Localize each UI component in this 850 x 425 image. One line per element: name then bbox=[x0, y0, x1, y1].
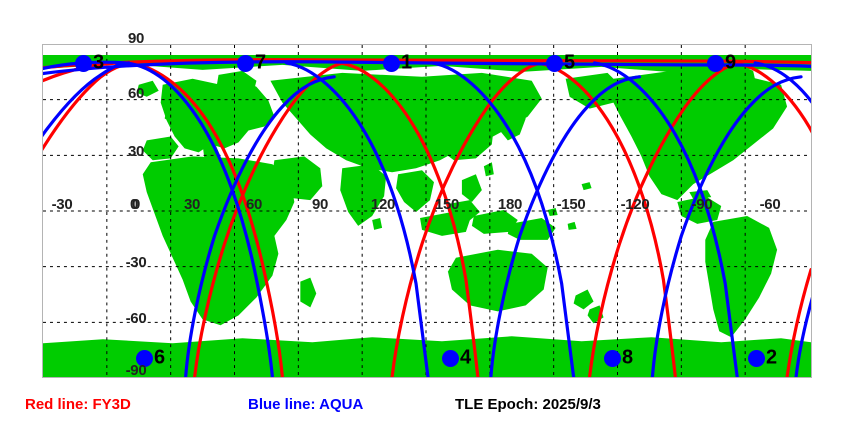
marker-label-2: 2 bbox=[766, 348, 777, 368]
ground-track-page: 3 7 1 5 9 6 4 8 2 -30 0 30 60 90 120 150… bbox=[0, 0, 850, 425]
lon-tick-label: -60 bbox=[760, 196, 781, 213]
legend: Red line: FY3D Blue line: AQUA TLE Epoch… bbox=[0, 392, 850, 420]
lon-tick-label: -90 bbox=[692, 196, 713, 213]
marker-node-5[interactable] bbox=[546, 55, 563, 72]
marker-label-5: 5 bbox=[564, 53, 575, 73]
lon-tick-label: 30 bbox=[184, 196, 200, 213]
marker-label-8: 8 bbox=[622, 348, 633, 368]
lon-tick-label: -30 bbox=[52, 196, 73, 213]
legend-tle-epoch: TLE Epoch: 2025/9/3 bbox=[455, 396, 601, 413]
lat-tick-label: -60 bbox=[126, 310, 147, 327]
marker-label-6: 6 bbox=[154, 348, 165, 368]
marker-node-1[interactable] bbox=[383, 55, 400, 72]
marker-label-4: 4 bbox=[460, 348, 471, 368]
legend-blue-line: Blue line: AQUA bbox=[248, 396, 363, 413]
marker-node-7[interactable] bbox=[237, 55, 254, 72]
lat-tick-label: -90 bbox=[126, 362, 147, 379]
lon-tick-label: -150 bbox=[557, 196, 586, 213]
marker-label-9: 9 bbox=[725, 53, 736, 73]
marker-label-3: 3 bbox=[93, 53, 104, 73]
lat-tick-label: 30 bbox=[128, 143, 144, 160]
lat-tick-label: 60 bbox=[128, 85, 144, 102]
lat-tick-label: -30 bbox=[126, 254, 147, 271]
legend-red-line: Red line: FY3D bbox=[25, 396, 131, 413]
lat-tick-label: 90 bbox=[128, 30, 144, 47]
lon-tick-label: 90 bbox=[312, 196, 328, 213]
lon-tick-label: 150 bbox=[435, 196, 459, 213]
lat-tick-label: 0 bbox=[132, 196, 140, 213]
lon-tick-label: 180 bbox=[498, 196, 522, 213]
marker-label-7: 7 bbox=[255, 53, 266, 73]
marker-node-8[interactable] bbox=[604, 350, 621, 367]
marker-node-9[interactable] bbox=[707, 55, 724, 72]
marker-node-4[interactable] bbox=[442, 350, 459, 367]
marker-node-3[interactable] bbox=[75, 55, 92, 72]
marker-node-2[interactable] bbox=[748, 350, 765, 367]
lon-tick-label: -120 bbox=[621, 196, 650, 213]
lon-tick-label: 120 bbox=[371, 196, 395, 213]
marker-label-1: 1 bbox=[401, 53, 412, 73]
lon-tick-label: 60 bbox=[246, 196, 262, 213]
